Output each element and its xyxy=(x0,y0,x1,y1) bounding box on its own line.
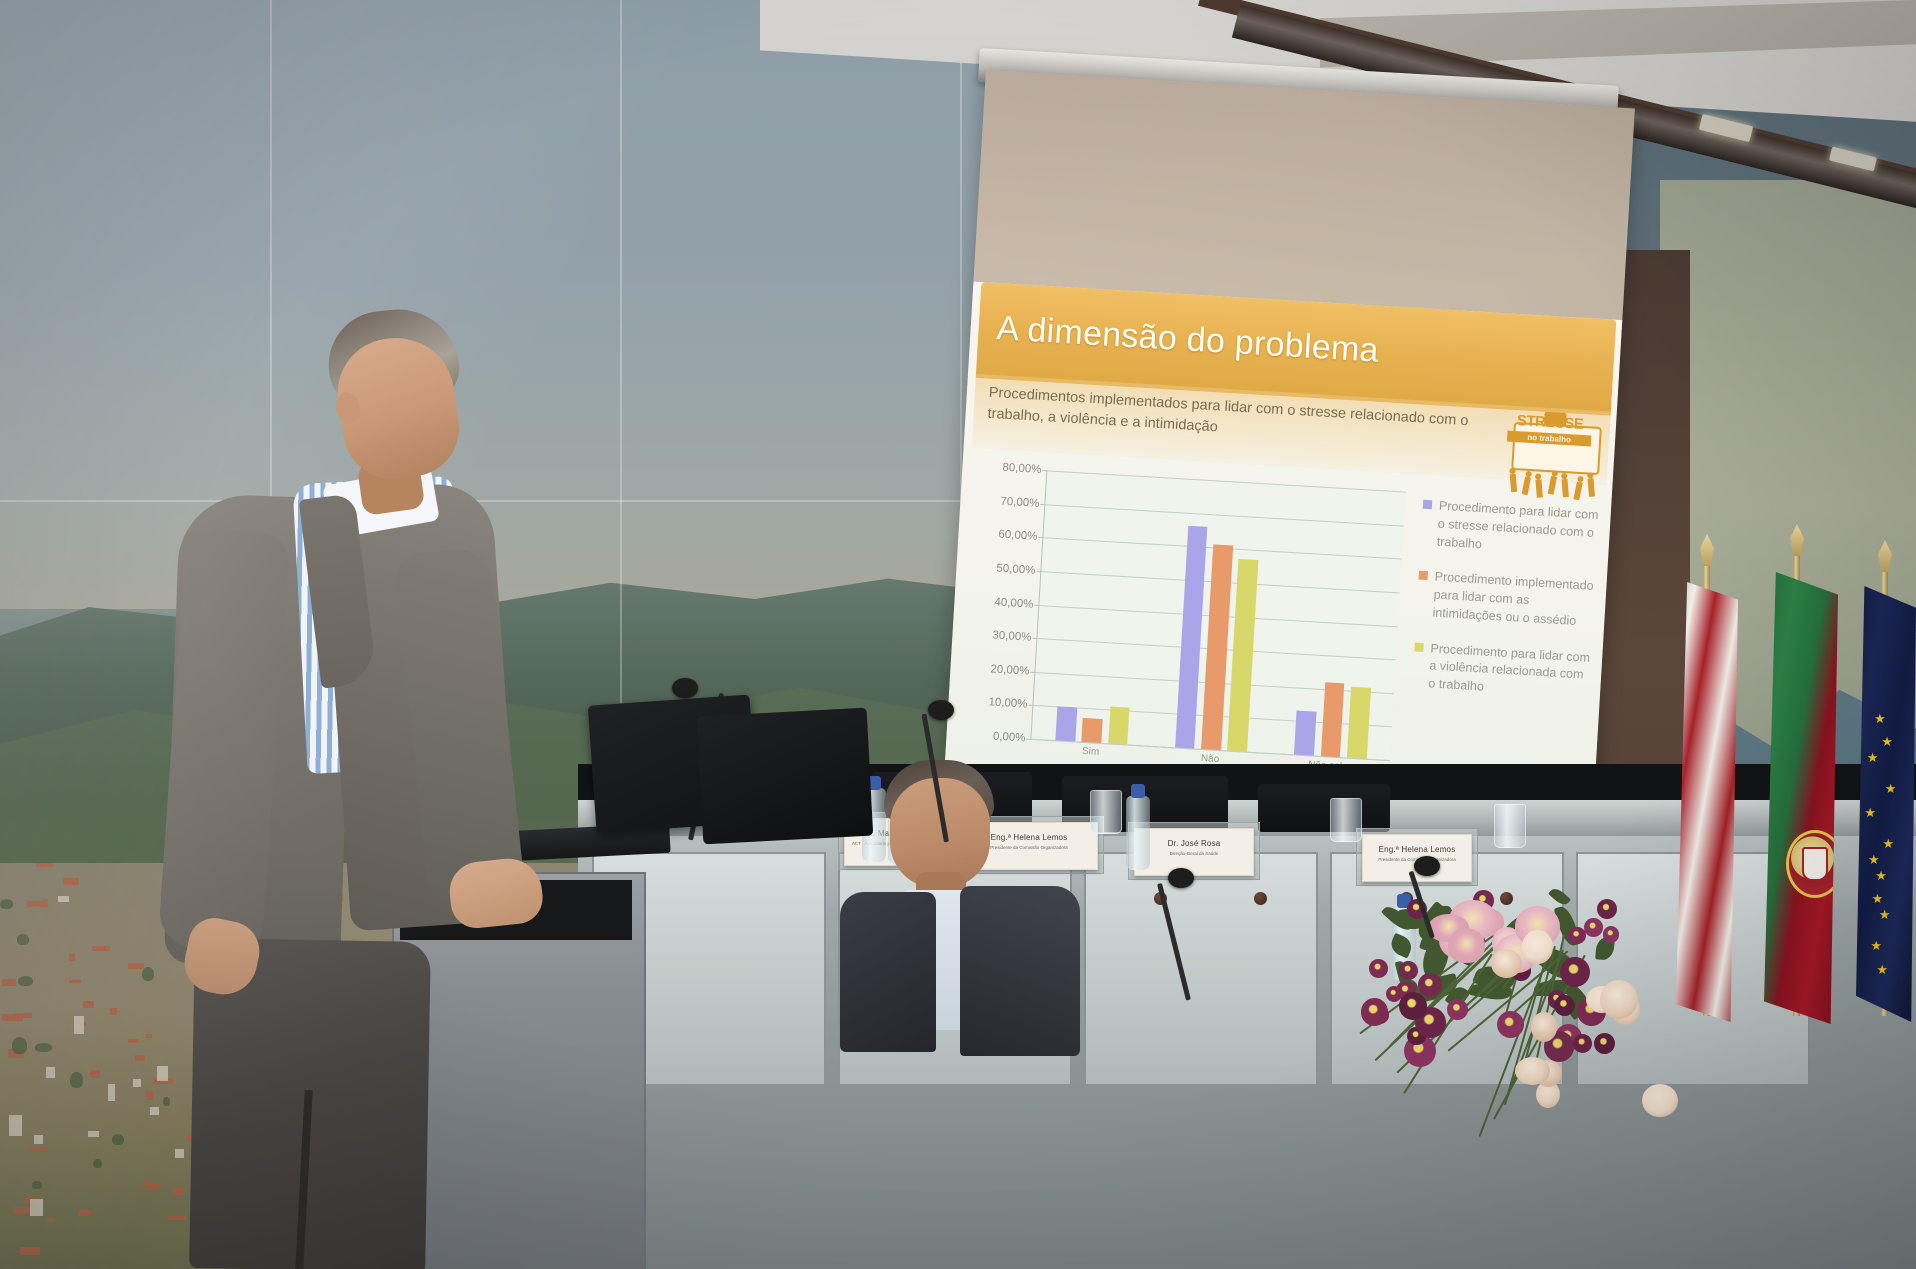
legend-color-swatch xyxy=(1414,642,1424,652)
chart-gridline xyxy=(1047,470,1405,492)
eu-star-icon: ★ xyxy=(1881,735,1893,748)
chart-bar xyxy=(1055,707,1077,742)
chart-legend-item: Procedimento implementado para lidar com… xyxy=(1416,568,1599,632)
chart-bar xyxy=(1347,687,1371,759)
chart-bar xyxy=(1082,718,1103,743)
microphone-head xyxy=(1414,856,1440,876)
chrysanthemum-bloom xyxy=(1573,1034,1592,1053)
chart-y-tick-label: 60,00% xyxy=(998,529,1038,543)
seated-suit-left xyxy=(840,892,936,1052)
chrysanthemum-bloom xyxy=(1497,1011,1525,1039)
water-bottle xyxy=(1126,796,1150,870)
person-pictogram-icon xyxy=(1535,479,1542,497)
legend-color-swatch xyxy=(1423,500,1433,510)
person-pictogram-icon xyxy=(1588,478,1595,496)
rose-bloom xyxy=(1531,1012,1558,1041)
person-pictogram-icon xyxy=(1573,481,1582,500)
microphone-head xyxy=(1168,868,1194,888)
legend-label: Procedimento para lidar com o stresse re… xyxy=(1436,499,1598,551)
chart-plot-area: 0,00%10,00%20,00%30,00%40,00%50,00%60,00… xyxy=(1030,470,1405,761)
chrysanthemum-bloom xyxy=(1584,918,1603,937)
presenter-right-hand xyxy=(447,855,545,930)
name-placard: Dr. José Rosa Direção-Geral da Saúde xyxy=(1134,828,1254,876)
chart-bar xyxy=(1201,544,1233,750)
rose-bloom xyxy=(1522,930,1552,964)
drinking-glass xyxy=(1494,804,1526,848)
conference-hall-photo: A dimensão do problema Procedimentos imp… xyxy=(0,0,1916,1269)
rose-bloom xyxy=(1642,1084,1678,1117)
person-pictogram-icon xyxy=(1548,476,1557,495)
chart-y-tick-label: 20,00% xyxy=(990,663,1030,677)
eu-star-icon: ★ xyxy=(1876,963,1888,976)
seated-suit-right xyxy=(960,886,1080,1056)
chrysanthemum-bloom xyxy=(1386,986,1402,1002)
chrysanthemum-bloom xyxy=(1361,998,1389,1026)
chart-y-tickmark xyxy=(1036,571,1041,572)
slide-bar-chart: 0,00%10,00%20,00%30,00%40,00%50,00%60,00… xyxy=(963,462,1410,787)
chart-y-tick-label: 10,00% xyxy=(988,697,1028,711)
eu-star-icon: ★ xyxy=(1875,869,1887,882)
chart-y-tickmark xyxy=(1038,537,1043,538)
chrysanthemum-bloom xyxy=(1594,1033,1615,1054)
european-union-flag: ★★★★★★★★★★★★ xyxy=(1856,586,1916,1022)
eu-star-icon: ★ xyxy=(1868,853,1880,866)
eu-star-icon: ★ xyxy=(1867,751,1879,764)
eu-star-icon: ★ xyxy=(1872,892,1884,905)
chart-legend-item: Procedimento para lidar com o stresse re… xyxy=(1420,497,1603,561)
person-pictogram-icon xyxy=(1562,479,1569,497)
eu-star-icon: ★ xyxy=(1874,712,1886,725)
eu-star-icon: ★ xyxy=(1882,837,1894,850)
chart-y-tickmark xyxy=(1042,470,1047,471)
seated-panelist xyxy=(840,760,1100,1060)
chrysanthemum-bloom xyxy=(1447,999,1468,1020)
placard-name: Eng.ª Helena Lemos xyxy=(1363,845,1471,854)
chrysanthemum-bloom xyxy=(1568,927,1585,944)
chrysanthemum-bloom xyxy=(1554,995,1575,1016)
person-pictogram-icon xyxy=(1510,474,1517,492)
eu-star-icon: ★ xyxy=(1879,908,1891,921)
chart-y-tickmark xyxy=(1026,739,1031,740)
placard-name: Dr. José Rosa xyxy=(1135,839,1253,848)
presentation-slide: A dimensão do problema Procedimentos imp… xyxy=(944,282,1622,808)
seated-laptop-lid[interactable] xyxy=(697,708,873,845)
chart-y-tick-label: 30,00% xyxy=(992,630,1032,644)
chrysanthemum-bloom xyxy=(1399,961,1418,980)
chart-y-tick-label: 0,00% xyxy=(993,731,1026,745)
chart-y-tickmark xyxy=(1028,705,1033,706)
person-pictogram-icon xyxy=(1522,476,1531,495)
chart-x-tick-label: Sim xyxy=(1082,746,1100,758)
chart-bar xyxy=(1320,682,1344,757)
microphone-head xyxy=(672,678,698,698)
chart-legend-item: Procedimento para lidar com a violência … xyxy=(1412,639,1595,703)
chart-y-tickmark xyxy=(1030,671,1035,672)
rose-bloom xyxy=(1491,949,1522,978)
table-frosted-panel xyxy=(1084,852,1318,1086)
chart-legend: Procedimento para lidar com o stresse re… xyxy=(1411,497,1603,721)
eu-star-icon: ★ xyxy=(1870,939,1882,952)
chart-bar xyxy=(1294,711,1316,756)
chart-bar xyxy=(1227,559,1258,751)
chrysanthemum-bloom xyxy=(1418,973,1442,997)
projection-screen: A dimensão do problema Procedimentos imp… xyxy=(944,70,1634,807)
drinking-glass xyxy=(1330,798,1362,842)
portugal-shield xyxy=(1802,847,1828,881)
chart-y-tickmark xyxy=(1032,638,1037,639)
standing-presenter xyxy=(150,300,580,1269)
chart-y-tick-label: 40,00% xyxy=(994,596,1034,610)
legend-label: Procedimento para lidar com a violência … xyxy=(1428,641,1590,694)
microphone-head xyxy=(928,700,954,720)
chrysanthemum-bloom xyxy=(1560,957,1590,987)
stresse-no-trabalho-logo: STRESSE no trabalho xyxy=(1503,406,1605,508)
placard-role: Direção-Geral da Saúde xyxy=(1135,851,1253,858)
flower-leaf xyxy=(1388,933,1415,959)
chrysanthemum-bloom xyxy=(1597,899,1617,919)
chart-y-tick-label: 70,00% xyxy=(1000,495,1040,509)
chart-y-tickmark xyxy=(1040,504,1045,505)
chart-y-tick-label: 50,00% xyxy=(996,562,1036,576)
confidence-monitor xyxy=(1258,784,1390,832)
chrysanthemum-bloom xyxy=(1603,926,1620,943)
eu-star-icon: ★ xyxy=(1885,782,1897,795)
portugal-coat-of-arms xyxy=(1786,830,1838,898)
rose-bloom xyxy=(1600,980,1638,1019)
portugal-flag xyxy=(1764,572,1838,1024)
legend-label: Procedimento implementado para lidar com… xyxy=(1432,570,1594,628)
chart-y-tickmark xyxy=(1034,604,1039,605)
rose-bloom xyxy=(1515,1057,1550,1085)
chart-y-tick-label: 80,00% xyxy=(1002,462,1042,476)
eu-star-icon: ★ xyxy=(1864,806,1876,819)
chart-gridline xyxy=(1045,504,1403,526)
chart-bar xyxy=(1108,706,1130,744)
orchid-bloom xyxy=(1448,928,1485,963)
legend-color-swatch xyxy=(1419,571,1429,581)
flower-leaf xyxy=(1548,886,1571,908)
logo-people-pictograms xyxy=(1504,467,1602,503)
flower-arrangement xyxy=(1356,886,1656,1116)
panel-knob xyxy=(1254,892,1267,905)
chrysanthemum-bloom xyxy=(1369,959,1388,978)
bottle-cap xyxy=(1131,784,1145,798)
